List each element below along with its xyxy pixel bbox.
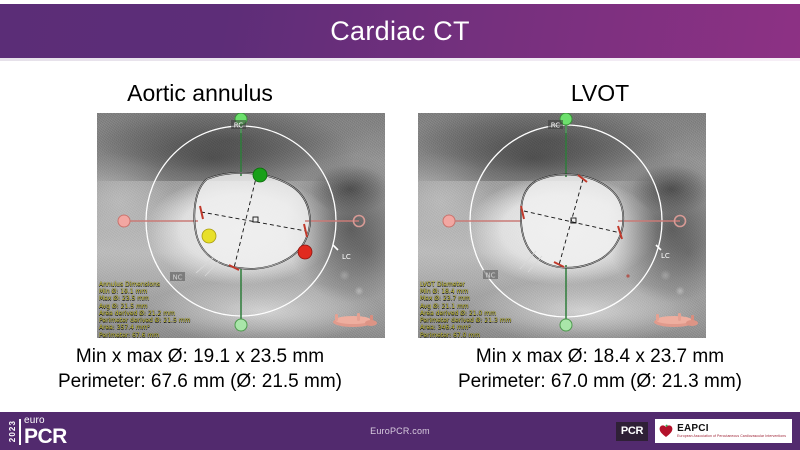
- ct-panels: RC LC NC: [0, 113, 800, 338]
- marker-yellow-cusp-aortic: [202, 229, 216, 243]
- readout-max-diameter-aortic: Max Ø: 23.5 mm: [99, 295, 190, 302]
- eapci-text-block: EAPCI European Association of Percutaneo…: [677, 424, 786, 438]
- handle-red-left-lvot: [443, 215, 455, 227]
- measurement-readout-aortic: Annulus Dimensions Min Ø: 19.1 mm Max Ø:…: [99, 281, 190, 338]
- marker-red-cusp-aortic: [298, 245, 312, 259]
- caption-aortic-annulus: Min x max Ø: 19.1 x 23.5 mm Perimeter: 6…: [0, 344, 400, 402]
- ct-panel-lvot: RC LC NC: [418, 113, 706, 338]
- marker-dot-small-lvot: [626, 274, 629, 277]
- label-nc-lvot: NC: [483, 270, 498, 280]
- svg-text:LC: LC: [342, 253, 351, 261]
- caption-lvot: Min x max Ø: 18.4 x 23.7 mm Perimeter: 6…: [400, 344, 800, 402]
- readout-avg-diameter-aortic: Avg Ø: 21.5 mm: [99, 303, 190, 310]
- label-lc-lvot: LC: [661, 252, 670, 260]
- ct-image-lvot: RC LC NC: [418, 113, 706, 338]
- slide-header: Cardiac CT: [0, 4, 800, 58]
- label-rc-aortic: RC: [231, 120, 246, 130]
- caption-lvot-perimeter: Perimeter: 67.0 mm (Ø: 21.3 mm): [400, 369, 800, 394]
- svg-text:NC: NC: [485, 272, 495, 280]
- orientation-icon-aortic: [327, 307, 379, 333]
- label-rc-lvot: RC: [548, 120, 563, 130]
- readout-perimeter-lvot: Perimeter: 67.0 mm: [420, 332, 511, 338]
- handle-green-bottom-lvot: [560, 319, 572, 331]
- handle-red-left-aortic: [118, 215, 130, 227]
- caption-aortic-min-max: Min x max Ø: 19.1 x 23.5 mm: [0, 344, 400, 369]
- readout-title-lvot: LVOT Diameter: [420, 281, 511, 288]
- column-headings: Aortic annulus LVOT: [0, 78, 800, 108]
- column-heading-aortic-annulus: Aortic annulus: [0, 78, 400, 108]
- circle-tick-right-aortic: [333, 245, 338, 250]
- readout-area-derived-lvot: Area derived Ø: 21.0 mm: [420, 310, 511, 317]
- readout-area-lvot: Area: 346.4 mm²: [420, 324, 511, 331]
- pcr-badge-logo: PCR: [616, 422, 648, 441]
- eapci-name: EAPCI: [677, 424, 786, 434]
- readout-perimeter-aortic: Perimeter: 67.6 mm: [99, 332, 190, 338]
- readout-area-aortic: Area: 357.4 mm²: [99, 324, 190, 331]
- eapci-logo: EAPCI European Association of Percutaneo…: [655, 419, 792, 443]
- cusp-tick-a-aortic: [196, 257, 214, 273]
- eapci-subtitle: European Association of Percutaneous Car…: [677, 434, 786, 438]
- header-underline: [0, 58, 800, 61]
- handle-green-bottom-aortic: [235, 319, 247, 331]
- caption-lvot-min-max: Min x max Ø: 18.4 x 23.7 mm: [400, 344, 800, 369]
- cusp-tick-b-lvot: [528, 256, 542, 272]
- caption-aortic-perimeter: Perimeter: 67.6 mm (Ø: 21.5 mm): [0, 369, 400, 394]
- cusp-tick-a-lvot: [520, 251, 536, 269]
- readout-max-diameter-lvot: Max Ø: 23.7 mm: [420, 295, 511, 302]
- readout-area-derived-aortic: Area derived Ø: 21.2 mm: [99, 310, 190, 317]
- ct-image-aortic-annulus: RC LC NC: [97, 113, 385, 338]
- label-lc-aortic: LC: [342, 253, 351, 261]
- orientation-icon-lvot: [648, 307, 700, 333]
- column-heading-lvot: LVOT: [400, 78, 800, 108]
- svg-text:RC: RC: [234, 122, 244, 130]
- marker-green-cusp-aortic: [253, 168, 267, 182]
- slide-footer: 2023 euro PCR EuroPCR.com PCR EAPCI Euro…: [0, 412, 800, 450]
- svg-text:RC: RC: [551, 122, 561, 130]
- page-title: Cardiac CT: [330, 18, 470, 45]
- ct-panel-aortic-annulus: RC LC NC: [97, 113, 385, 338]
- panel-captions: Min x max Ø: 19.1 x 23.5 mm Perimeter: 6…: [0, 344, 800, 402]
- readout-title-aortic: Annulus Dimensions: [99, 281, 190, 288]
- readout-avg-diameter-lvot: Avg Ø: 21.1 mm: [420, 303, 511, 310]
- svg-text:LC: LC: [661, 252, 670, 260]
- heart-icon: [659, 424, 673, 438]
- measurement-readout-lvot: LVOT Diameter Min Ø: 18.4 mm Max Ø: 23.7…: [420, 281, 511, 338]
- slide: Cardiac CT Aortic annulus LVOT: [0, 0, 800, 450]
- footer-partner-logos: PCR EAPCI European Association of Percut…: [616, 419, 792, 443]
